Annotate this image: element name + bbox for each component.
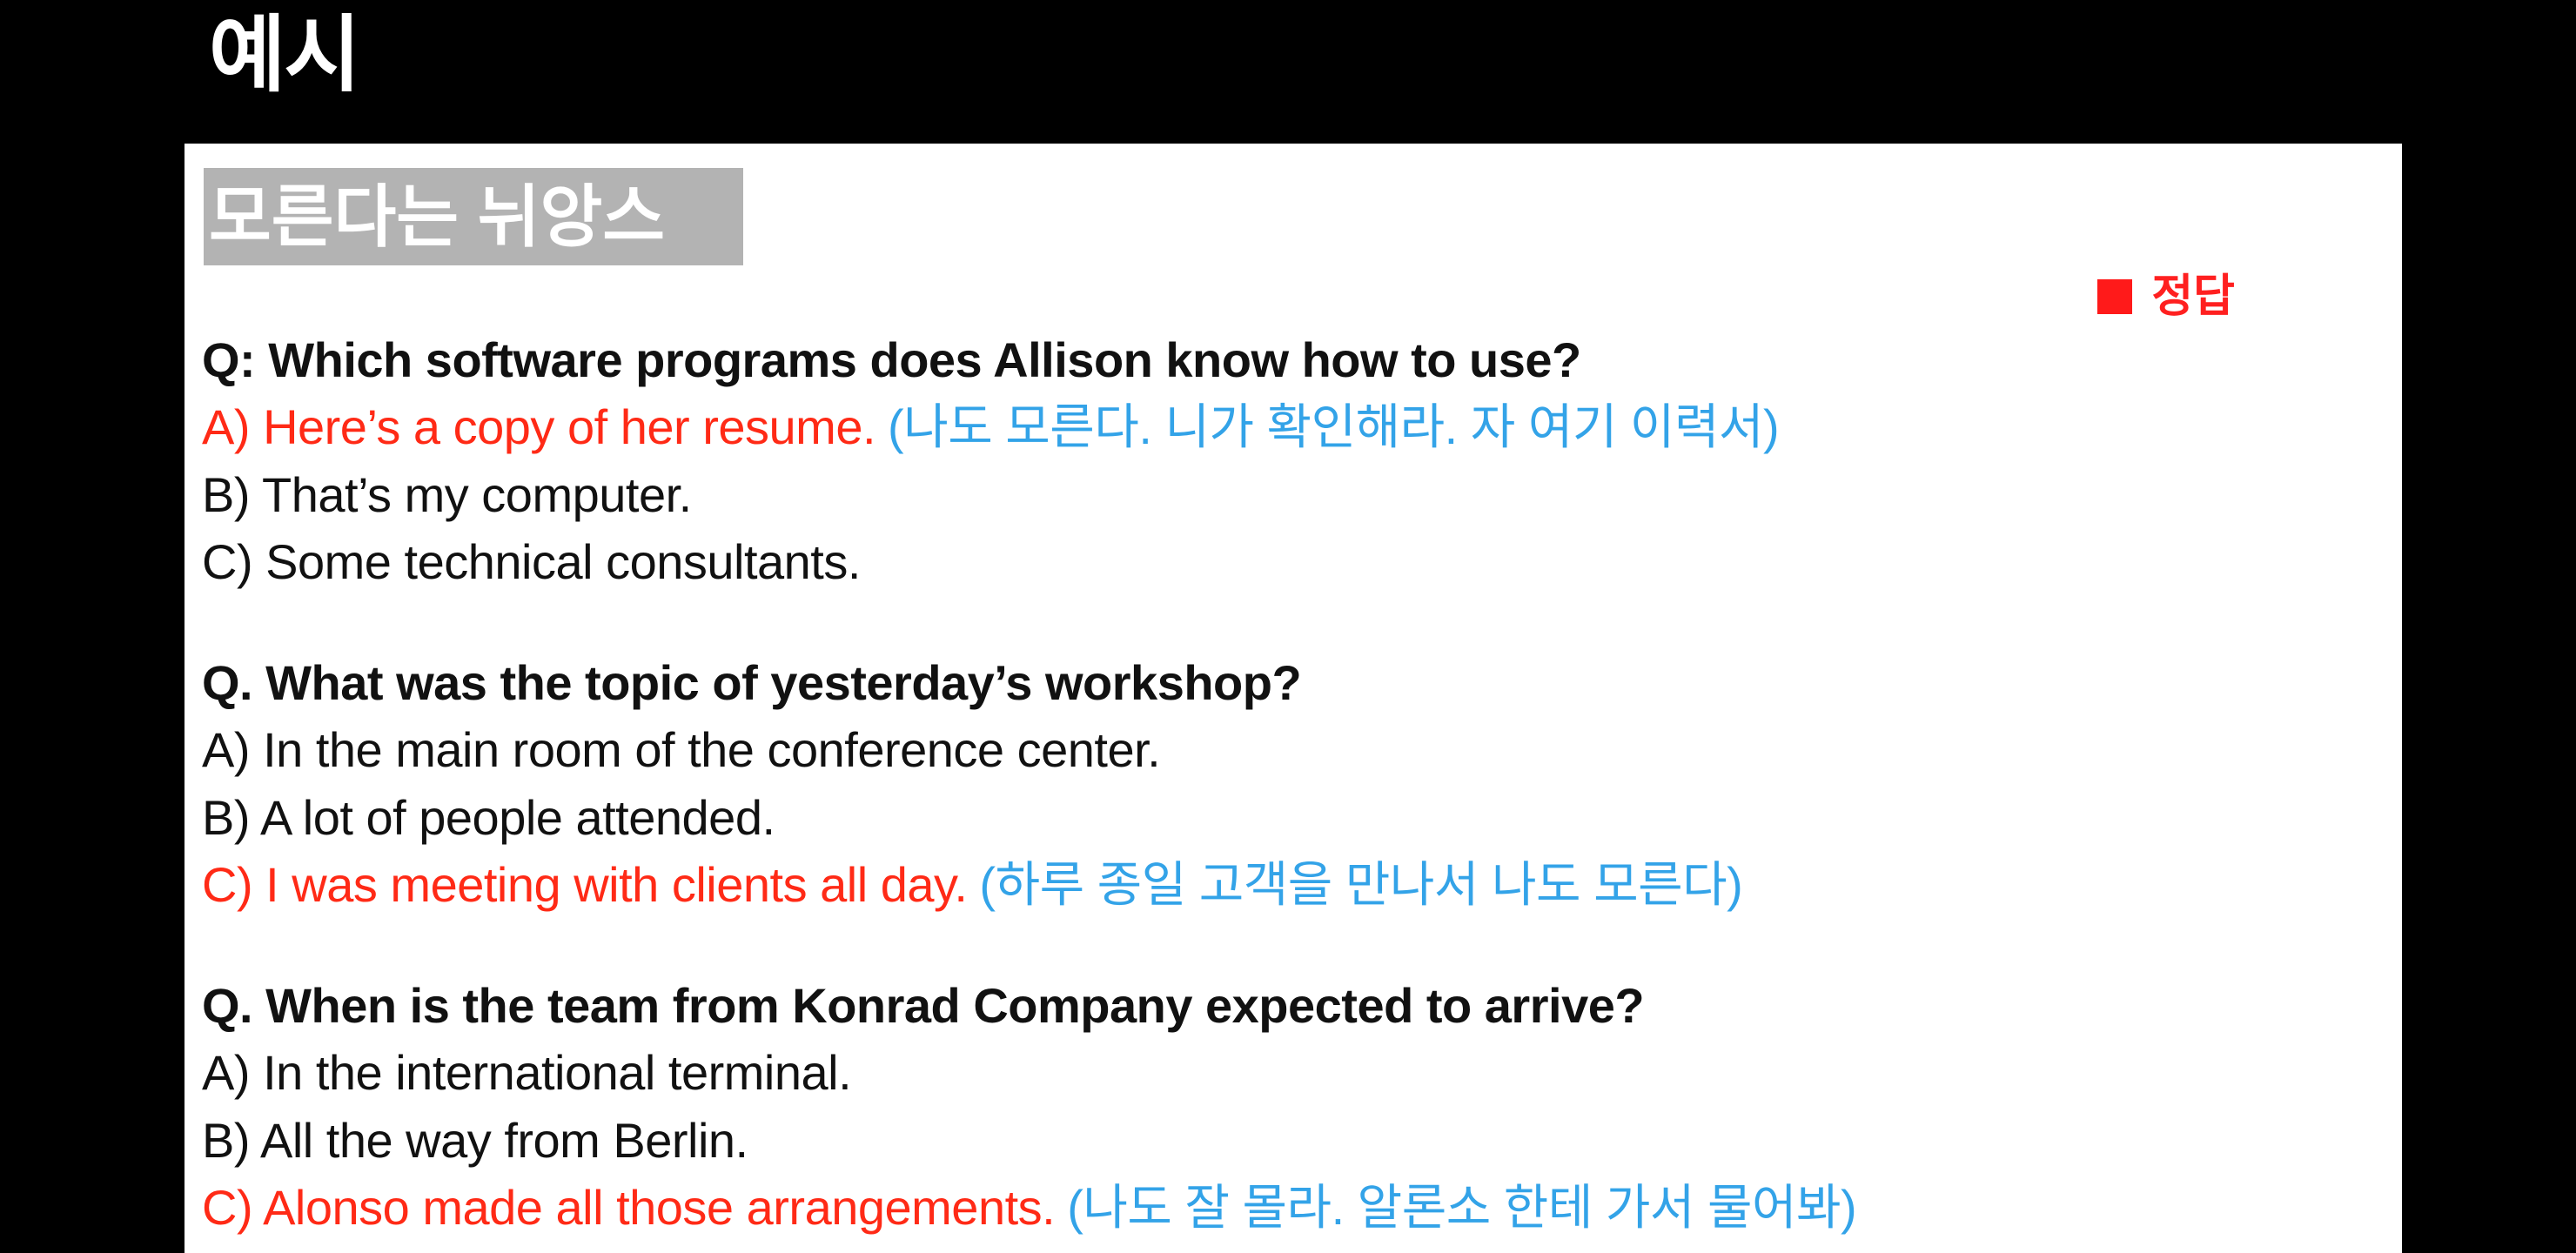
question-block: Q. When is the team from Konrad Company … [202, 972, 2385, 1241]
answer-option-text: In the international terminal. [263, 1045, 851, 1100]
answer-option[interactable]: A) In the main room of the conference ce… [202, 716, 2385, 783]
page-title: 예시 [209, 14, 359, 97]
answer-option-label: C) [202, 1180, 252, 1235]
slide-root: 예시 모른다는 뉘앙스 정답 Q: Which software program… [0, 0, 2576, 1253]
answer-option-label: A) [202, 399, 250, 454]
answer-option-correct[interactable]: C) Alonso made all those arrangements.(나… [202, 1174, 2385, 1241]
answer-option-label: C) [202, 857, 252, 912]
legend: 정답 [2097, 274, 2235, 319]
question-prompt: Q. When is the team from Konrad Company … [202, 972, 2385, 1039]
answer-option-label: A) [202, 722, 250, 777]
answer-option-label: B) [202, 467, 250, 522]
answer-option-text: A lot of people attended. [260, 790, 775, 845]
answer-option-text: Here’s a copy of her resume. [263, 399, 875, 454]
answer-option-correct[interactable]: A) Here’s a copy of her resume.(나도 모른다. … [202, 393, 2385, 460]
question-prompt: Q: Which software programs does Allison … [202, 326, 2385, 393]
legend-label: 정답 [2151, 274, 2235, 319]
korean-translation-note: (나도 모른다. 니가 확인해라. 자 여기 이력서) [888, 399, 1779, 454]
answer-option-text: Some technical consultants. [265, 534, 861, 589]
answer-option[interactable]: B) That’s my computer. [202, 461, 2385, 528]
red-square-icon [2097, 279, 2132, 314]
answer-option-label: B) [202, 790, 250, 845]
answer-option-label: B) [202, 1113, 250, 1168]
answer-option[interactable]: C) Some technical consultants. [202, 528, 2385, 595]
answer-option-text: In the main room of the conference cente… [263, 722, 1160, 777]
answer-option-text: All the way from Berlin. [260, 1113, 748, 1168]
answer-option[interactable]: A) In the international terminal. [202, 1039, 2385, 1106]
question-block: Q. What was the topic of yesterday’s wor… [202, 649, 2385, 918]
answer-option-text: I was meeting with clients all day. [265, 857, 967, 912]
answer-option-label: C) [202, 534, 252, 589]
answer-option-correct[interactable]: C) I was meeting with clients all day.(하… [202, 851, 2385, 918]
answer-option-text: That’s my computer. [262, 467, 692, 522]
answer-option[interactable]: B) All the way from Berlin. [202, 1107, 2385, 1174]
korean-translation-note: (하루 종일 고객을 만나서 나도 모른다) [979, 857, 1742, 912]
content-panel: 모른다는 뉘앙스 정답 Q: Which software programs d… [184, 144, 2402, 1253]
answer-option[interactable]: B) A lot of people attended. [202, 784, 2385, 851]
topic-chip-label: 모른다는 뉘앙스 [209, 183, 665, 251]
answer-option-label: A) [202, 1045, 250, 1100]
korean-translation-note: (나도 잘 몰라. 알론소 한테 가서 물어봐) [1067, 1180, 1856, 1235]
qa-list: Q: Which software programs does Allison … [202, 326, 2385, 1241]
question-block: Q: Which software programs does Allison … [202, 326, 2385, 595]
question-prompt: Q. What was the topic of yesterday’s wor… [202, 649, 2385, 716]
answer-option-text: Alonso made all those arrangements. [263, 1180, 1055, 1235]
topic-chip: 모른다는 뉘앙스 [204, 168, 743, 265]
